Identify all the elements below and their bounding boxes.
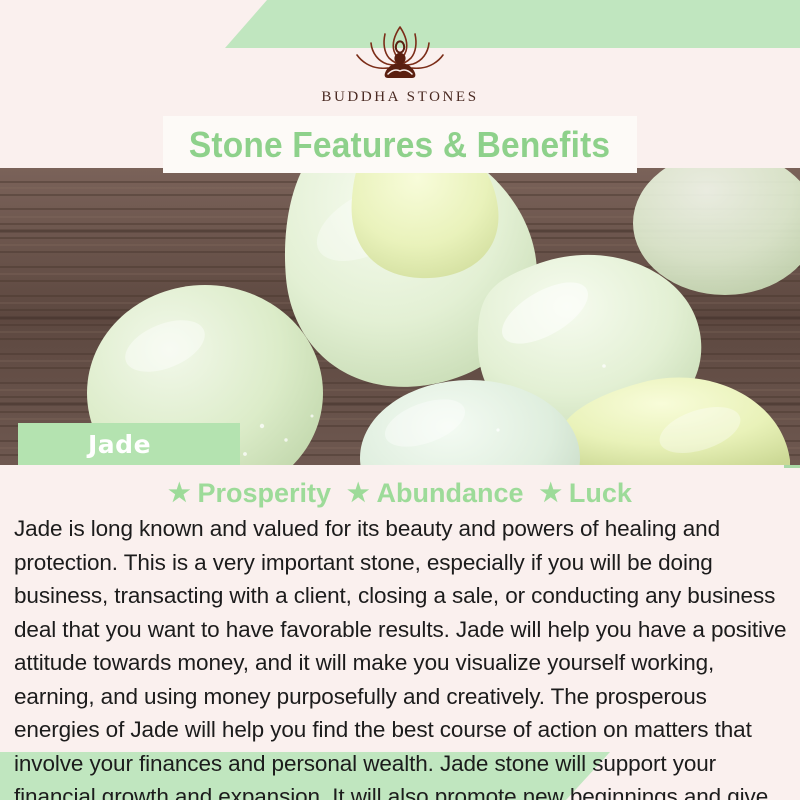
keyword-item-prosperity: ★ Prosperity — [168, 478, 331, 509]
stone-name-band: Jade — [18, 423, 240, 465]
lotus-meditation-icon — [341, 22, 459, 84]
page-title: Stone Features & Benefits — [189, 124, 610, 166]
keyword-list: ★ Prosperity ★ Abundance ★ Luck — [0, 478, 800, 509]
stone-photo — [0, 168, 800, 465]
brand-logo: BUDDHA STONES — [0, 22, 800, 106]
keyword-label: Prosperity — [197, 478, 331, 509]
star-icon: ★ — [539, 481, 561, 506]
brand-wordmark: BUDDHA STONES — [321, 89, 478, 106]
star-icon: ★ — [347, 481, 369, 506]
star-icon: ★ — [168, 481, 190, 506]
stone-photo-image — [0, 168, 800, 465]
keyword-label: Abundance — [376, 478, 523, 509]
title-banner: Stone Features & Benefits — [163, 116, 637, 173]
stone-name: Jade — [88, 430, 151, 459]
stone-info-card: BUDDHA STONES Stone Features & Benefits — [0, 0, 800, 800]
keyword-item-abundance: ★ Abundance — [347, 478, 523, 509]
stone-description: Jade is long known and valued for its be… — [14, 512, 790, 800]
keyword-label: Luck — [569, 478, 632, 509]
keyword-item-luck: ★ Luck — [539, 478, 631, 509]
